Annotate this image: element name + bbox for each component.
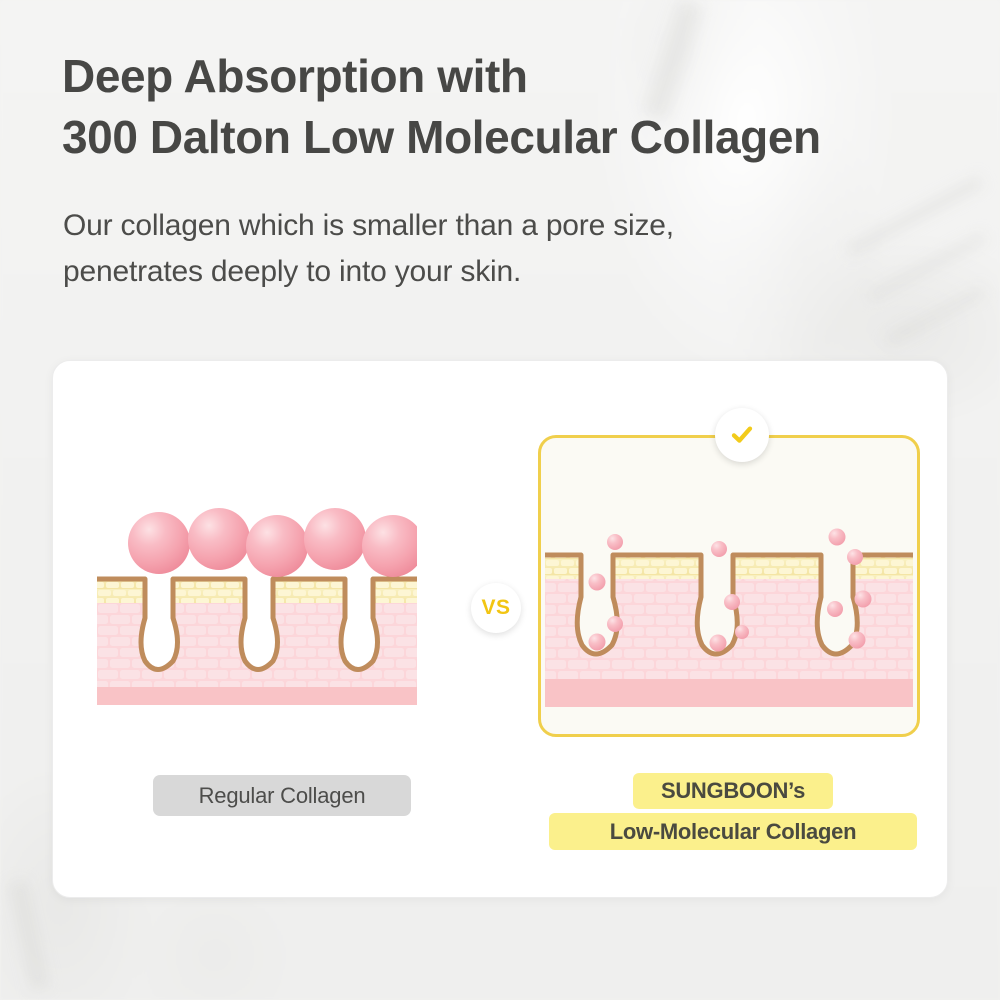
comparison-card: VS: [52, 360, 948, 898]
label-regular-collagen: Regular Collagen: [153, 775, 411, 816]
page-title: Deep Absorption with 300 Dalton Low Mole…: [62, 46, 962, 167]
page-subtitle: Our collagen which is smaller than a por…: [63, 203, 823, 294]
label-low-molecular-collagen: Low-Molecular Collagen: [549, 813, 917, 850]
regular-collagen-diagram: [97, 493, 417, 705]
vs-badge: VS: [471, 583, 521, 633]
label-sungboon-brand: SUNGBOON’s: [633, 773, 833, 809]
collagen-molecule-group: [128, 508, 417, 577]
check-icon: [715, 408, 769, 462]
low-molecular-collagen-diagram: [545, 527, 913, 733]
